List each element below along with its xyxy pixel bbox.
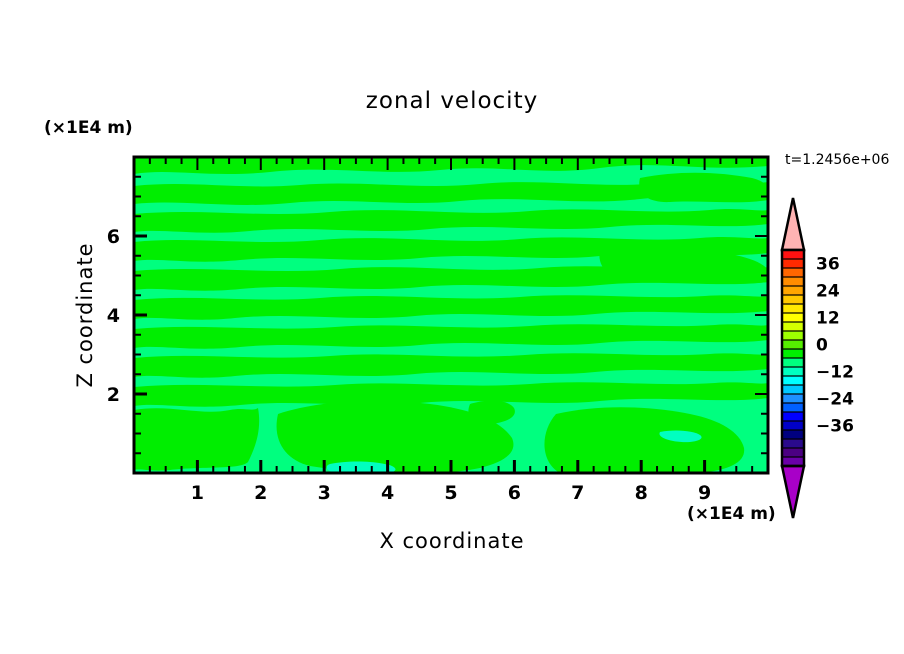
colorbar-band	[782, 286, 804, 296]
colorbar-band	[782, 403, 804, 413]
x-tick-label: 6	[508, 482, 521, 504]
colorbar-tick-label: −36	[816, 417, 854, 437]
colorbar-tick-label: 24	[816, 282, 840, 302]
x-tick-label: 1	[191, 482, 204, 504]
x-tick-label: 4	[381, 482, 394, 504]
colorbar-band	[782, 295, 804, 305]
colorbar-band	[782, 268, 804, 278]
colorbar-band	[782, 358, 804, 368]
figure-canvas: zonal velocity (×1E4 m) t=1.2456e+06	[0, 0, 904, 654]
timestamp-annotation: t=1.2456e+06	[785, 152, 889, 168]
colorbar-tick-label: 12	[816, 309, 840, 329]
page-title: zonal velocity	[366, 88, 538, 114]
y-tick-label: 6	[107, 226, 120, 248]
colorbar-band	[782, 313, 804, 323]
colorbar-tick-label: −12	[816, 363, 854, 383]
colorbar-band	[782, 277, 804, 287]
colorbar-band	[782, 349, 804, 359]
colorbar-band	[782, 448, 804, 458]
colorbar-band	[782, 376, 804, 386]
colorbar-tick-label: 0	[816, 336, 828, 356]
x-tick-label: 8	[635, 482, 648, 504]
x-tick-label: 5	[444, 482, 457, 504]
x-tick-label: 7	[571, 482, 584, 504]
colorbar-band	[782, 304, 804, 314]
colorbar-band	[782, 430, 804, 440]
x-tick-label: 9	[698, 482, 711, 504]
colorbar-band	[782, 331, 804, 341]
x-axis-units: (×1E4 m)	[687, 504, 776, 524]
colorbar-band	[782, 394, 804, 404]
colorbar-tick-label: 36	[816, 255, 840, 275]
y-tick-label: 2	[107, 384, 120, 406]
y-axis-units: (×1E4 m)	[44, 118, 133, 138]
colorbar-band	[782, 439, 804, 449]
contour-field	[134, 157, 768, 474]
y-tick-label: 4	[107, 305, 120, 327]
colorbar-band	[782, 421, 804, 431]
colorbar-band	[782, 340, 804, 350]
y-axis-title: Z coordinate	[73, 242, 97, 387]
x-tick-label: 3	[318, 482, 331, 504]
colorbar-band	[782, 250, 804, 260]
x-axis-title: X coordinate	[379, 529, 524, 553]
colorbar-tick-label: −24	[816, 390, 854, 410]
colorbar-band	[782, 385, 804, 395]
colorbar-band	[782, 412, 804, 422]
contour-plot-figure: zonal velocity (×1E4 m) t=1.2456e+06	[0, 0, 904, 654]
colorbar-band	[782, 367, 804, 377]
colorbar-band	[782, 322, 804, 332]
colorbar-band	[782, 259, 804, 269]
x-tick-label: 2	[254, 482, 267, 504]
colorbar-band-group	[782, 250, 804, 467]
